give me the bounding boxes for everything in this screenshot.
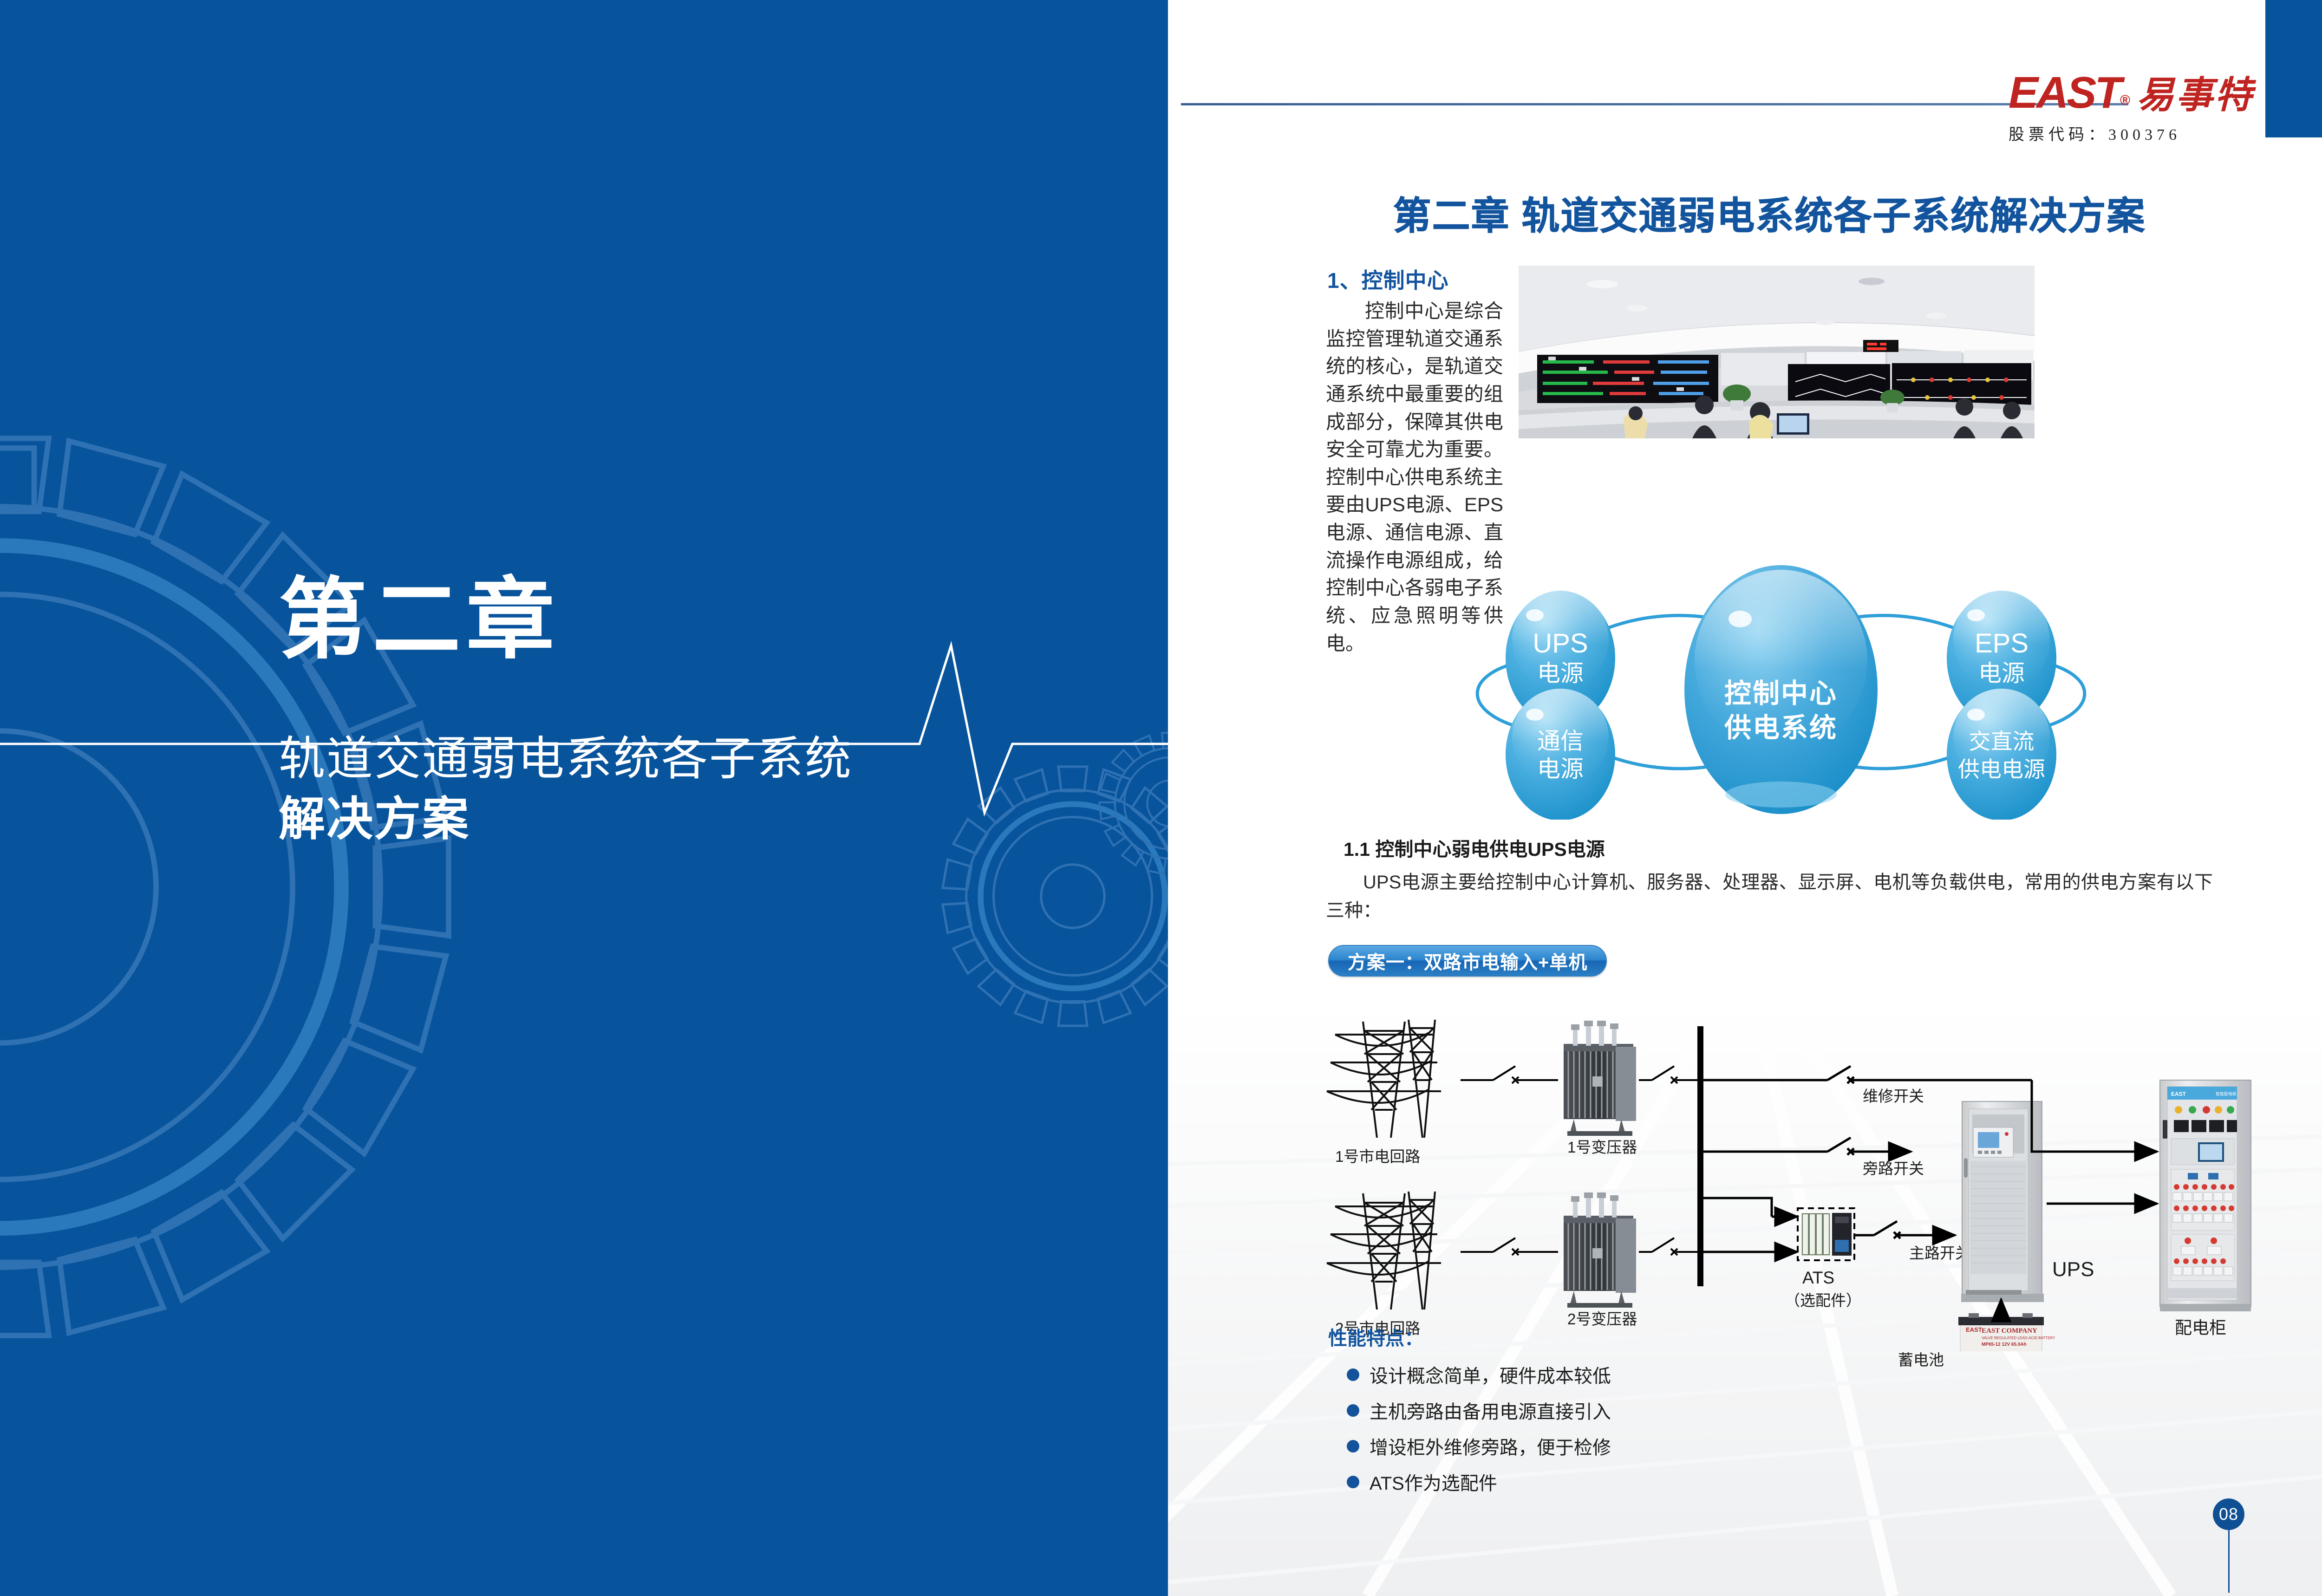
transformer-2 [1564,1192,1636,1308]
header-divider-rule [1181,103,2128,105]
svg-text:EPS: EPS [1975,628,2028,658]
bubble-comm: 通信 电源 [1506,689,1615,820]
svg-text:VALVE REGULATED LEAD-ACID BATT: VALVE REGULATED LEAD-ACID BATTERY [1982,1336,2055,1340]
label-bypass-switch: 旁路开关 [1863,1160,1924,1177]
corner-accent-block [2265,0,2322,137]
svg-text:EAST: EAST [1966,1326,1982,1333]
bullet-icon [1347,1404,1359,1417]
label-grid-1: 1号市电回路 [1335,1148,1420,1165]
logo-east-wordmark: EAST [2009,68,2120,117]
content-page: EAST®易事特 股票代码：300376 第二章 轨道交通弱电系统各子系统解决方… [1168,0,2322,1596]
svg-text:EAST COMPANY: EAST COMPANY [1982,1327,2037,1335]
plan-one-label: 方案一：双路市电输入+单机 [1348,947,1587,974]
svg-text:供电电源: 供电电源 [1958,757,2045,782]
svg-text:UPS: UPS [1533,628,1588,658]
label-battery-text: 蓄电池 [1898,1348,1944,1370]
svg-text:电源: 电源 [1537,756,1584,782]
logo-chinese-wordmark: 易事特 [2137,75,2254,116]
gear-large-icon [0,399,488,1375]
feature-label: ATS作为选配件 [1370,1468,1497,1495]
page-chapter-heading: 第二章 轨道交通弱电系统各子系统解决方案 [1328,185,2211,240]
svg-text:控制中心: 控制中心 [1724,678,1838,709]
label-ats-note: （选配件） [1785,1292,1861,1309]
bullet-icon [1347,1368,1359,1381]
features-title: 性能特点： [1328,1322,1423,1350]
cover-chapter-title: 第二章 [279,576,560,664]
power-pylon-2 [1327,1192,1441,1309]
cover-subtitle-line1: 轨道交通弱电系统各子系统 [279,729,853,788]
svg-text:智能配电柜: 智能配电柜 [2216,1091,2237,1096]
svg-text:电源: 电源 [1978,660,2025,686]
feature-item: 设计概念简单，硬件成本较低 [1347,1361,1811,1388]
ats-module [1798,1208,1854,1260]
bullet-icon [1347,1476,1359,1488]
bubble-center: 控制中心 供电系统 [1684,565,1878,814]
feature-label: 主机旁路由备用电源直接引入 [1370,1397,1611,1424]
section-1-1-heading: 1.1 控制中心弱电供电UPS电源 [1344,834,1605,861]
power-schematic-diagram: 1号市电回路 2号市电回路 [1307,998,2292,1351]
svg-text:MP65-12 12V 65.0Ah: MP65-12 12V 65.0Ah [1982,1342,2027,1347]
feature-item: 主机旁路由备用电源直接引入 [1347,1397,1811,1424]
section-1-heading: 1、控制中心 [1327,264,1449,294]
label-maintenance-switch: 维修开关 [1863,1088,1924,1105]
svg-text:电源: 电源 [1537,660,1584,686]
section-1-1-paragraph: UPS电源主要给控制中心计算机、服务器、处理器、显示屏、电机等负载供电，常用的供… [1326,868,2213,925]
transformer-1 [1564,1021,1636,1136]
feature-item: ATS作为选配件 [1347,1468,1811,1495]
features-list: 设计概念简单，硬件成本较低 主机旁路由备用电源直接引入 增设柜外维修旁路，便于检… [1328,1361,1811,1504]
feature-label: 增设柜外维修旁路，便于检修 [1370,1433,1611,1459]
page-number-label: 08 [2213,1498,2244,1530]
battery-unit: EAST EAST COMPANY VALVE REGULATED LEAD-A… [1958,1313,2055,1351]
power-pylon-1 [1327,1020,1441,1138]
bullet-icon [1347,1440,1359,1453]
busbar [1697,1026,1703,1286]
feature-item: 增设柜外维修旁路，便于检修 [1347,1433,1811,1459]
label-distribution-cabinet: 配电柜 [2175,1318,2226,1337]
stock-code-label: 股票代码：300376 [2009,122,2250,144]
brand-logo: EAST®易事特 股票代码：300376 [2009,65,2250,149]
chapter-cover-panel: 第二章 轨道交通弱电系统各子系统 解决方案 [0,0,1168,1596]
page-number-marker: 08 [2213,1498,2244,1593]
label-ups: UPS [2052,1258,2094,1281]
bubble-acdc: 交直流 供电电源 [1947,689,2056,820]
svg-text:通信: 通信 [1537,728,1584,754]
plan-one-badge: 方案一：双路市电输入+单机 [1328,945,1607,977]
label-ats: ATS [1802,1268,1834,1287]
svg-text:交直流: 交直流 [1969,729,2035,754]
distribution-cabinet: EAST 智能配电柜 [2160,1080,2251,1311]
label-transformer-1: 1号变压器 [1567,1139,1637,1156]
power-system-bubble-diagram: UPS 电源 EPS 电源 通信 电源 交直流 供电电源 [1465,555,2097,820]
label-transformer-2: 2号变压器 [1567,1310,1637,1328]
control-center-photo [1519,266,2035,438]
registered-trademark-icon: ® [2120,93,2128,108]
feature-label: 设计概念简单，硬件成本较低 [1370,1361,1611,1388]
svg-text:供电系统: 供电系统 [1724,713,1838,743]
cover-subtitle-line2: 解决方案 [279,789,470,849]
svg-text:EAST: EAST [2171,1091,2186,1097]
label-main-switch: 主路开关 [1909,1244,1970,1262]
page-number-stem [2228,1530,2230,1593]
